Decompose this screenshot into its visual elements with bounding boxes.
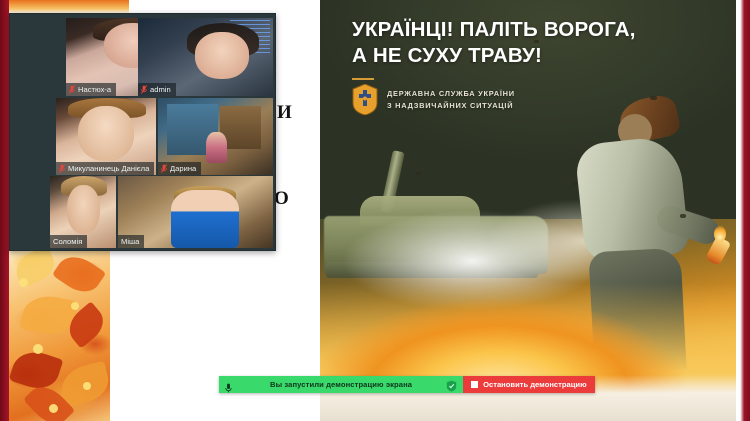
poster-headline: УКРАЇНЦІ! ПАЛІТЬ ВОРОГА, А НЕ СУХУ ТРАВУ…: [352, 17, 724, 69]
participant-nametag: Соломія: [50, 235, 87, 248]
molotov-flame: [714, 226, 726, 242]
screen-share-toolbar[interactable]: Вы запустили демонстрацию экрана Останов…: [219, 376, 595, 393]
slide-text-fragment-1: И: [277, 103, 292, 122]
muted-microphone-icon: [59, 164, 65, 173]
dsns-cross-icon: [352, 84, 378, 115]
video-tile-5[interactable]: Соломія: [50, 176, 116, 248]
poster-divider: [352, 78, 374, 80]
video-conference-panel[interactable]: Настюх-а admin: [9, 13, 276, 251]
video-tile-2[interactable]: admin: [138, 18, 273, 96]
screen: И О УКРАЇНЦІ! ПАЛІТЬ ВОРОГА, А НЕ: [0, 0, 750, 421]
shield-icon[interactable]: [446, 379, 457, 391]
participant-name: Микуланинець Данієла: [68, 163, 149, 174]
participant-name: Настюх-а: [78, 84, 111, 95]
screen-share-status: Вы запустили демонстрацию экрана: [219, 376, 463, 393]
microphone-icon[interactable]: [225, 380, 232, 390]
poster-org-line-2: З НАДЗВИЧАЙНИХ СИТУАЦІЙ: [387, 100, 515, 112]
stop-screen-share-button[interactable]: Остановить демонстрацию: [463, 376, 594, 393]
slide-right-border: [736, 0, 750, 421]
video-tile-3[interactable]: Микуланинець Данієла: [56, 98, 156, 175]
poster-headline-line-2: А НЕ СУХУ ТРАВУ!: [352, 43, 724, 69]
participant-name: Міша: [121, 236, 139, 247]
participant-nametag: Міша: [118, 235, 144, 248]
participant-name: Соломія: [53, 236, 82, 247]
participant-nametag: Дарина: [158, 162, 201, 175]
participant-nametag: admin: [138, 83, 176, 96]
stop-square-icon: [471, 381, 478, 388]
participant-nametag: Микуланинець Данієла: [56, 162, 154, 175]
video-tile-4[interactable]: Дарина: [158, 98, 273, 175]
participant-nametag: Настюх-а: [66, 83, 116, 96]
autumn-leaves-border-left: [9, 248, 110, 421]
participant-name: admin: [150, 84, 171, 95]
muted-microphone-icon: [141, 85, 147, 94]
slide-left-border: [0, 0, 9, 421]
stop-screen-share-label: Остановить демонстрацию: [483, 380, 586, 389]
autumn-leaves-top-accent: [9, 0, 129, 14]
screen-share-message: Вы запустили демонстрацию экрана: [238, 380, 440, 389]
poster-org-line-1: ДЕРЖАВНА СЛУЖБА УКРАЇНИ: [387, 88, 515, 100]
muted-microphone-icon: [161, 164, 167, 173]
participant-name: Дарина: [170, 163, 196, 174]
video-tile-6[interactable]: Міша: [118, 176, 273, 248]
poster-organization-text: ДЕРЖАВНА СЛУЖБА УКРАЇНИ З НАДЗВИЧАЙНИХ С…: [387, 88, 515, 112]
poster-headline-line-1: УКРАЇНЦІ! ПАЛІТЬ ВОРОГА,: [352, 17, 724, 43]
muted-microphone-icon: [69, 85, 75, 94]
poster-organization: ДЕРЖАВНА СЛУЖБА УКРАЇНИ З НАДЗВИЧАЙНИХ С…: [352, 84, 515, 115]
slide-text-fragment-2: О: [274, 189, 289, 208]
video-grid: Настюх-а admin: [14, 18, 271, 246]
shared-poster-image: УКРАЇНЦІ! ПАЛІТЬ ВОРОГА, А НЕ СУХУ ТРАВУ…: [320, 0, 736, 421]
